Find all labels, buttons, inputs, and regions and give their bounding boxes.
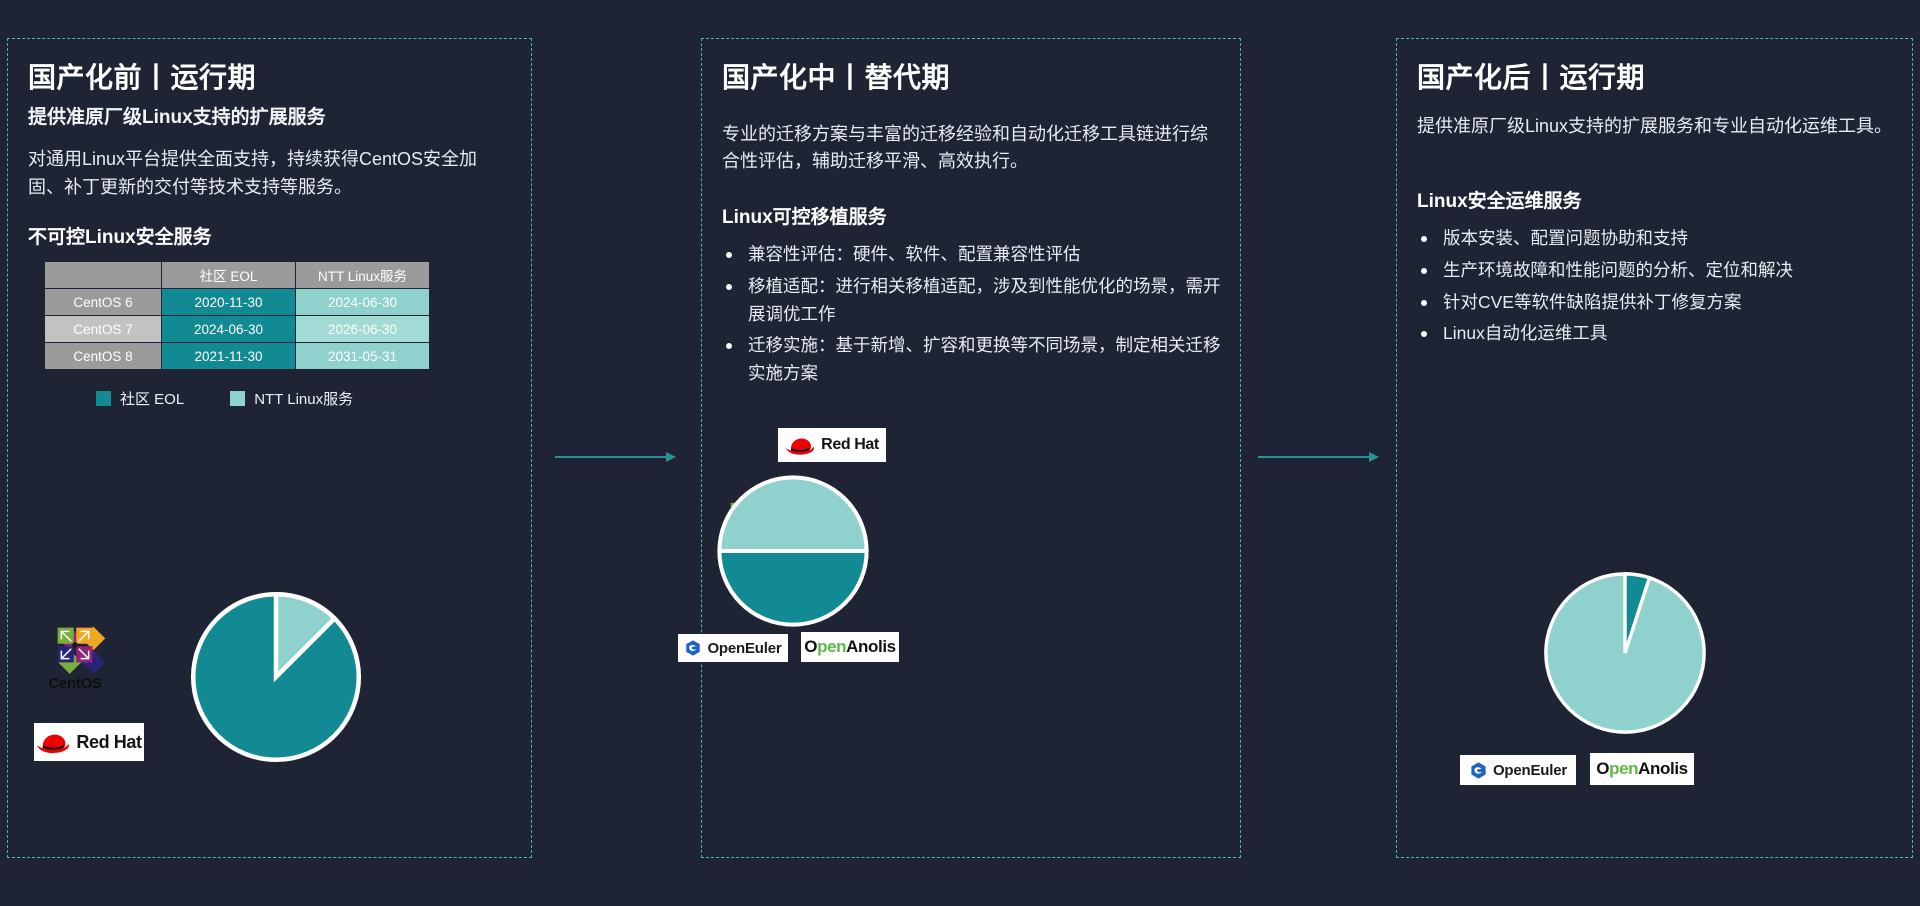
panel-during-localization: 国产化中丨替代期 专业的迁移方案与丰富的迁移经验和自动化迁移工具链进行综合性评估…	[701, 38, 1241, 858]
openanolis-logo: OpenAnolis	[1590, 753, 1694, 785]
panel-3-bullet-list: 版本安装、配置问题协助和支持 生产环境故障和性能问题的分析、定位和解决 针对CV…	[1417, 225, 1894, 348]
chart-legend: 社区 EOL NTT Linux服务	[96, 388, 513, 409]
panel-before-localization: 国产化前丨运行期 提供准原厂级Linux支持的扩展服务 对通用Linux平台提供…	[7, 38, 532, 858]
openanolis-text-part-1: O	[804, 637, 817, 656]
table-header-eol: 社区 EOL	[162, 262, 296, 289]
openeuler-logo-text: OpenEuler	[1493, 762, 1567, 779]
centos-logo: CentOS	[44, 614, 106, 692]
openanolis-text-part-3: Anolis	[846, 637, 896, 656]
table-cell-os: CentOS 8	[45, 343, 162, 370]
pie-chart-svg	[1539, 567, 1711, 739]
table-cell-ntt: 2026-06-30	[296, 316, 430, 343]
arrow-phase-1-to-2-icon	[555, 456, 675, 458]
redhat-logo: Red Hat	[778, 428, 886, 462]
openanolis-text-part-2: pen	[817, 637, 846, 656]
list-item: 迁移实施：基于新增、扩容和更换等不同场景，制定相关迁移实施方案	[722, 332, 1222, 387]
panel-1-pie-chart	[186, 587, 366, 772]
redhat-logo-text: Red Hat	[821, 436, 879, 454]
redhat-logo: Red Hat	[34, 723, 144, 761]
table-cell-eol: 2020-11-30	[162, 289, 296, 316]
openeuler-mark-icon	[684, 639, 702, 657]
list-item: 兼容性评估：硬件、软件、配置兼容性评估	[722, 241, 1222, 269]
redhat-fedora-icon	[785, 434, 815, 456]
arrow-phase-2-to-3-icon	[1258, 456, 1378, 458]
panel-2-section-heading: Linux可控移植服务	[722, 202, 1222, 229]
slide-canvas: 国产化前丨运行期 提供准原厂级Linux支持的扩展服务 对通用Linux平台提供…	[0, 0, 1920, 906]
list-item: 移植适配：进行相关移植适配，涉及到性能优化的场景，需开展调优工作	[722, 273, 1222, 328]
redhat-fedora-icon	[36, 730, 70, 754]
legend-label-eol: 社区 EOL	[120, 388, 184, 409]
table-row: CentOS 8 2021-11-30 2031-05-31	[45, 343, 430, 370]
panel-3-pie-chart	[1539, 567, 1711, 744]
legend-label-ntt: NTT Linux服务	[254, 388, 353, 409]
openeuler-logo: OpenEuler	[678, 634, 788, 662]
table-cell-os: CentOS 7	[45, 316, 162, 343]
panel-2-pie-chart	[713, 471, 873, 636]
list-item: 版本安装、配置问题协助和支持	[1417, 225, 1894, 253]
redhat-logo-text: Red Hat	[76, 732, 141, 753]
table-cell-ntt: 2024-06-30	[296, 289, 430, 316]
openanolis-logo: OpenAnolis	[801, 632, 899, 662]
openanolis-text-part-1: O	[1596, 759, 1609, 778]
panel-3-section-heading: Linux安全运维服务	[1417, 186, 1894, 213]
panel-3-title: 国产化后丨运行期	[1417, 61, 1894, 95]
table-row: CentOS 7 2024-06-30 2026-06-30	[45, 316, 430, 343]
table-header-corner	[45, 262, 162, 289]
legend-item-ntt: NTT Linux服务	[230, 388, 353, 409]
table-header-ntt: NTT Linux服务	[296, 262, 430, 289]
pie-chart-svg	[713, 471, 873, 631]
centos-mark-icon	[44, 614, 106, 676]
openanolis-logo-text: OpenAnolis	[804, 637, 895, 657]
panel-2-body: 专业的迁移方案与丰富的迁移经验和自动化迁移工具链进行综合性评估，辅助迁移平滑、高…	[722, 121, 1222, 177]
list-item: 针对CVE等软件缺陷提供补丁修复方案	[1417, 289, 1894, 317]
openanolis-text-part-3: Anolis	[1638, 759, 1688, 778]
centos-eol-table: 社区 EOL NTT Linux服务 CentOS 6 2020-11-30 2…	[44, 261, 430, 370]
table-cell-ntt: 2031-05-31	[296, 343, 430, 370]
panel-2-bullet-list: 兼容性评估：硬件、软件、配置兼容性评估 移植适配：进行相关移植适配，涉及到性能优…	[722, 241, 1222, 387]
openanolis-text-part-2: pen	[1609, 759, 1638, 778]
table-cell-eol: 2024-06-30	[162, 316, 296, 343]
table-header-row: 社区 EOL NTT Linux服务	[45, 262, 430, 289]
table-cell-eol: 2021-11-30	[162, 343, 296, 370]
table-cell-os: CentOS 6	[45, 289, 162, 316]
panel-1-section-heading: 不可控Linux安全服务	[28, 222, 513, 249]
panel-1-body: 对通用Linux平台提供全面支持，持续获得CentOS安全加固、补丁更新的交付等…	[28, 146, 513, 202]
openeuler-logo: OpenEuler	[1460, 755, 1576, 785]
openanolis-logo-text: OpenAnolis	[1596, 759, 1687, 779]
legend-swatch-ntt	[230, 391, 245, 406]
list-item: Linux自动化运维工具	[1417, 320, 1894, 348]
list-item: 生产环境故障和性能问题的分析、定位和解决	[1417, 257, 1894, 285]
legend-item-eol: 社区 EOL	[96, 388, 184, 409]
openeuler-mark-icon	[1469, 761, 1488, 780]
panel-1-subtitle: 提供准原厂级Linux支持的扩展服务	[28, 105, 513, 131]
centos-logo-text: CentOS	[44, 675, 106, 692]
legend-swatch-eol	[96, 391, 111, 406]
panel-1-title: 国产化前丨运行期	[28, 61, 513, 95]
panel-3-body: 提供准原厂级Linux支持的扩展服务和专业自动化运维工具。	[1417, 113, 1894, 141]
panel-after-localization: 国产化后丨运行期 提供准原厂级Linux支持的扩展服务和专业自动化运维工具。 L…	[1396, 38, 1913, 858]
table-row: CentOS 6 2020-11-30 2024-06-30	[45, 289, 430, 316]
openeuler-logo-text: OpenEuler	[707, 640, 781, 657]
pie-chart-svg	[186, 587, 366, 767]
panel-2-title: 国产化中丨替代期	[722, 61, 1222, 95]
